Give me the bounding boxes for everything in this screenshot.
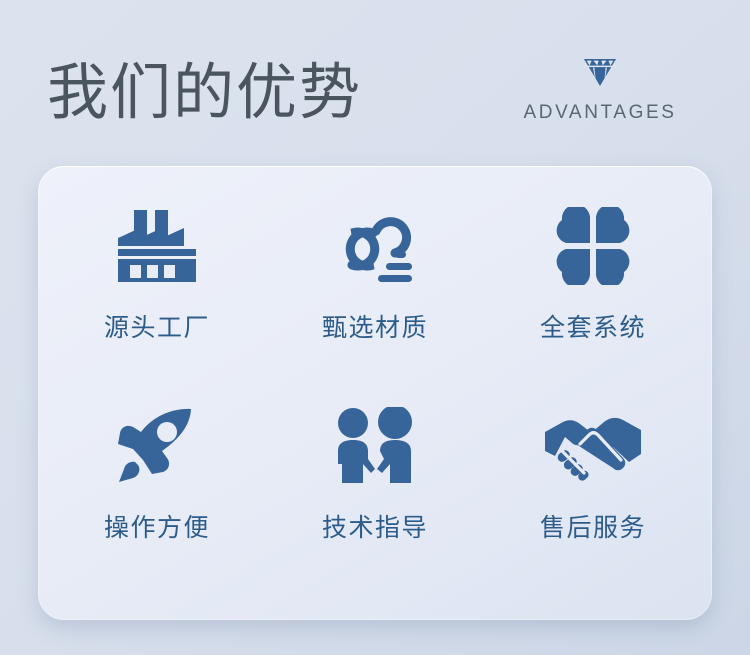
feature-label: 源头工厂 [104,308,210,344]
feature-label: 技术指导 [322,508,428,544]
feature-item[interactable]: 技术指导 [266,398,484,598]
factory-icon [114,198,200,294]
feature-label: 售后服务 [540,508,646,544]
two-people-icon [332,398,418,494]
handshake-icon [543,398,643,494]
advantages-card: 源头工厂 [38,166,712,620]
page-title: 我们的优势 [47,56,362,128]
feature-label: 全套系统 [540,308,646,344]
chain-link-icon [329,198,421,294]
feature-label: 甄选材质 [322,308,428,344]
feature-item[interactable]: 售后服务 [484,398,702,598]
header: 我们的优势 ADVANTAGES [0,0,750,160]
feature-item[interactable]: 操作方便 [48,398,266,598]
advantages-subtitle: ADVANTAGES [490,102,710,124]
diamond-icon [490,56,710,90]
feature-item[interactable]: 甄选材质 [266,198,484,398]
header-right-block: ADVANTAGES [490,56,710,124]
four-petal-icon [553,198,633,294]
feature-label: 操作方便 [104,508,210,544]
feature-item[interactable]: 源头工厂 [48,198,266,398]
feature-item[interactable]: 全套系统 [484,198,702,398]
rocket-icon [113,398,201,494]
features-grid: 源头工厂 [38,166,712,620]
